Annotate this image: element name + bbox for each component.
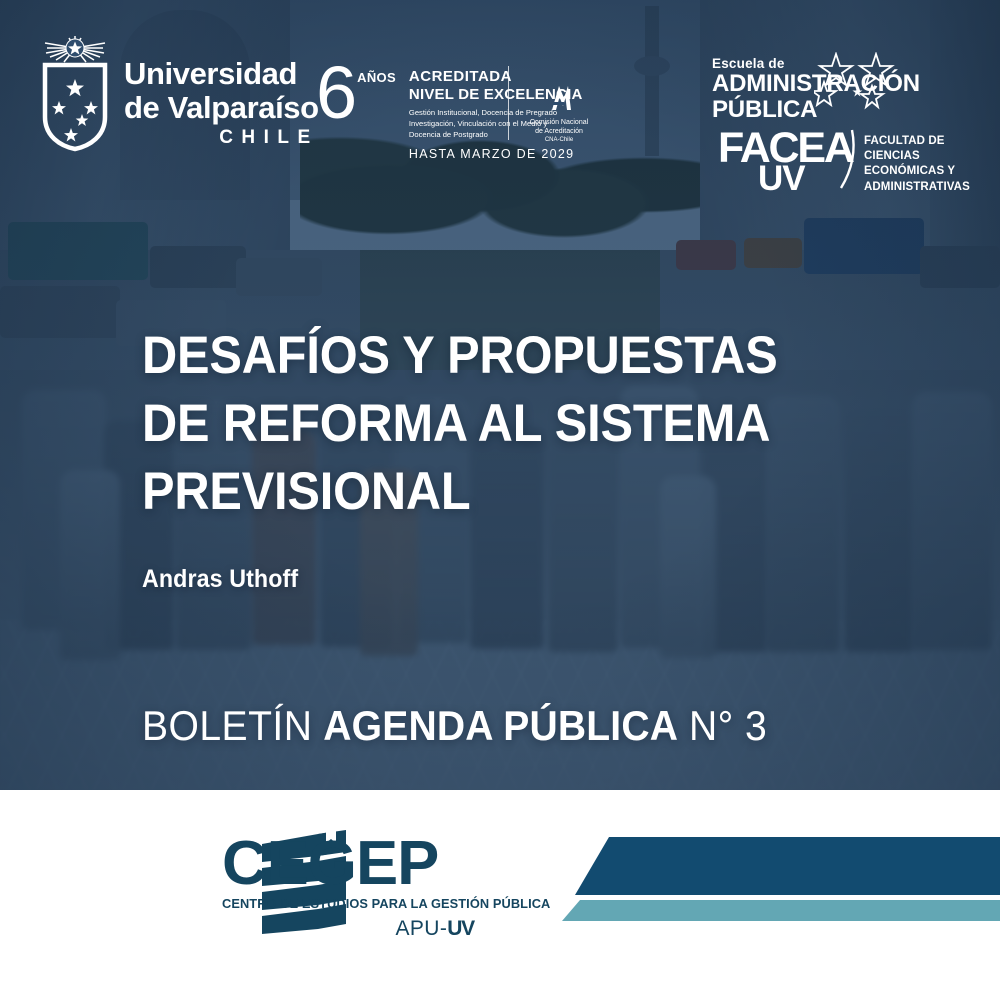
cna-line3: CNA-Chile bbox=[524, 137, 594, 143]
faculty-line3: ECONÓMICAS Y bbox=[864, 164, 970, 179]
cegep-apu-prefix: APU- bbox=[395, 917, 447, 940]
date-text: Noviembre|2024 bbox=[70, 800, 345, 836]
university-line2: de Valparaíso bbox=[124, 92, 319, 123]
date-separator: | bbox=[250, 799, 259, 836]
university-wordmark: Universidad de Valparaíso CHILE bbox=[124, 58, 319, 147]
accreditation-years-number: 6 bbox=[316, 64, 355, 122]
university-logo: Universidad de Valparaíso CHILE bbox=[38, 36, 319, 154]
uv-emblem bbox=[38, 36, 112, 154]
faculty-line4: ADMINISTRATIVAS bbox=[864, 180, 970, 195]
footer: CEGEP CENTRO DE ESTUDIOS PARA LA GESTIÓN… bbox=[0, 790, 1000, 1000]
author-name: Andras Uthoff bbox=[142, 565, 298, 594]
bulletin-line: BOLETÍN AGENDA PÚBLICA N° 3 bbox=[142, 705, 767, 747]
faculty-logo: FACEA UV FACULTAD DE CIENCIAS ECONÓMICAS… bbox=[718, 130, 970, 195]
university-line1: Universidad bbox=[124, 58, 319, 89]
poster-root: Universidad de Valparaíso CHILE 6 AÑOS A… bbox=[0, 0, 1000, 1000]
cegep-logo: CEGEP CENTRO DE ESTUDIOS PARA LA GESTIÓN… bbox=[222, 835, 562, 941]
cegep-wordmark: CEGEP bbox=[222, 835, 569, 892]
accreditation-divider bbox=[508, 66, 509, 140]
facea-slash-icon bbox=[838, 128, 860, 190]
faculty-text: FACULTAD DE CIENCIAS ECONÓMICAS Y ADMINI… bbox=[864, 134, 970, 195]
accreditation-line1: ACREDITADA bbox=[409, 68, 583, 85]
faculty-line1: FACULTAD DE bbox=[864, 134, 970, 149]
bulletin-number: N° 3 bbox=[689, 702, 767, 749]
cegep-subtitle: CENTRO DE ESTUDIOS PARA LA GESTIÓN PÚBLI… bbox=[222, 896, 552, 911]
cna-logo: Comisión Nacional de Acreditación CNA-Ch… bbox=[524, 84, 594, 143]
shield-icon bbox=[42, 62, 108, 152]
date-accent-bar bbox=[562, 900, 1000, 921]
logo-row: Universidad de Valparaíso CHILE 6 AÑOS A… bbox=[0, 0, 1000, 200]
date-banner bbox=[575, 837, 1000, 895]
accreditation-years-label: AÑOS bbox=[357, 70, 396, 85]
stars-decoration-icon bbox=[814, 52, 914, 112]
university-line3: CHILE bbox=[124, 128, 319, 147]
cna-mark-icon bbox=[542, 84, 576, 110]
sunburst-star-icon bbox=[41, 36, 109, 64]
faculty-line2: CIENCIAS bbox=[864, 149, 970, 164]
school-logo: Escuela de ADMINISTRACIÓN PÚBLICA bbox=[712, 56, 920, 124]
page-title: DESAFÍOS Y PROPUESTAS DE REFORMA AL SIST… bbox=[142, 322, 850, 525]
cna-line2: de Acreditación bbox=[524, 127, 594, 136]
cegep-apu-uv: UV bbox=[447, 917, 474, 940]
facea-wordmark: FACEA UV bbox=[718, 130, 858, 192]
bulletin-prefix: BOLETÍN bbox=[142, 702, 312, 749]
cna-line1: Comisión Nacional bbox=[524, 118, 594, 127]
cegep-apu: APU-UV bbox=[222, 917, 474, 941]
accreditation-valid-until: HASTA MARZO DE 2029 bbox=[409, 147, 583, 161]
bulletin-name: AGENDA PÚBLICA bbox=[323, 702, 678, 749]
date-year: 2024 bbox=[269, 799, 344, 836]
date-month: Noviembre bbox=[70, 799, 239, 836]
